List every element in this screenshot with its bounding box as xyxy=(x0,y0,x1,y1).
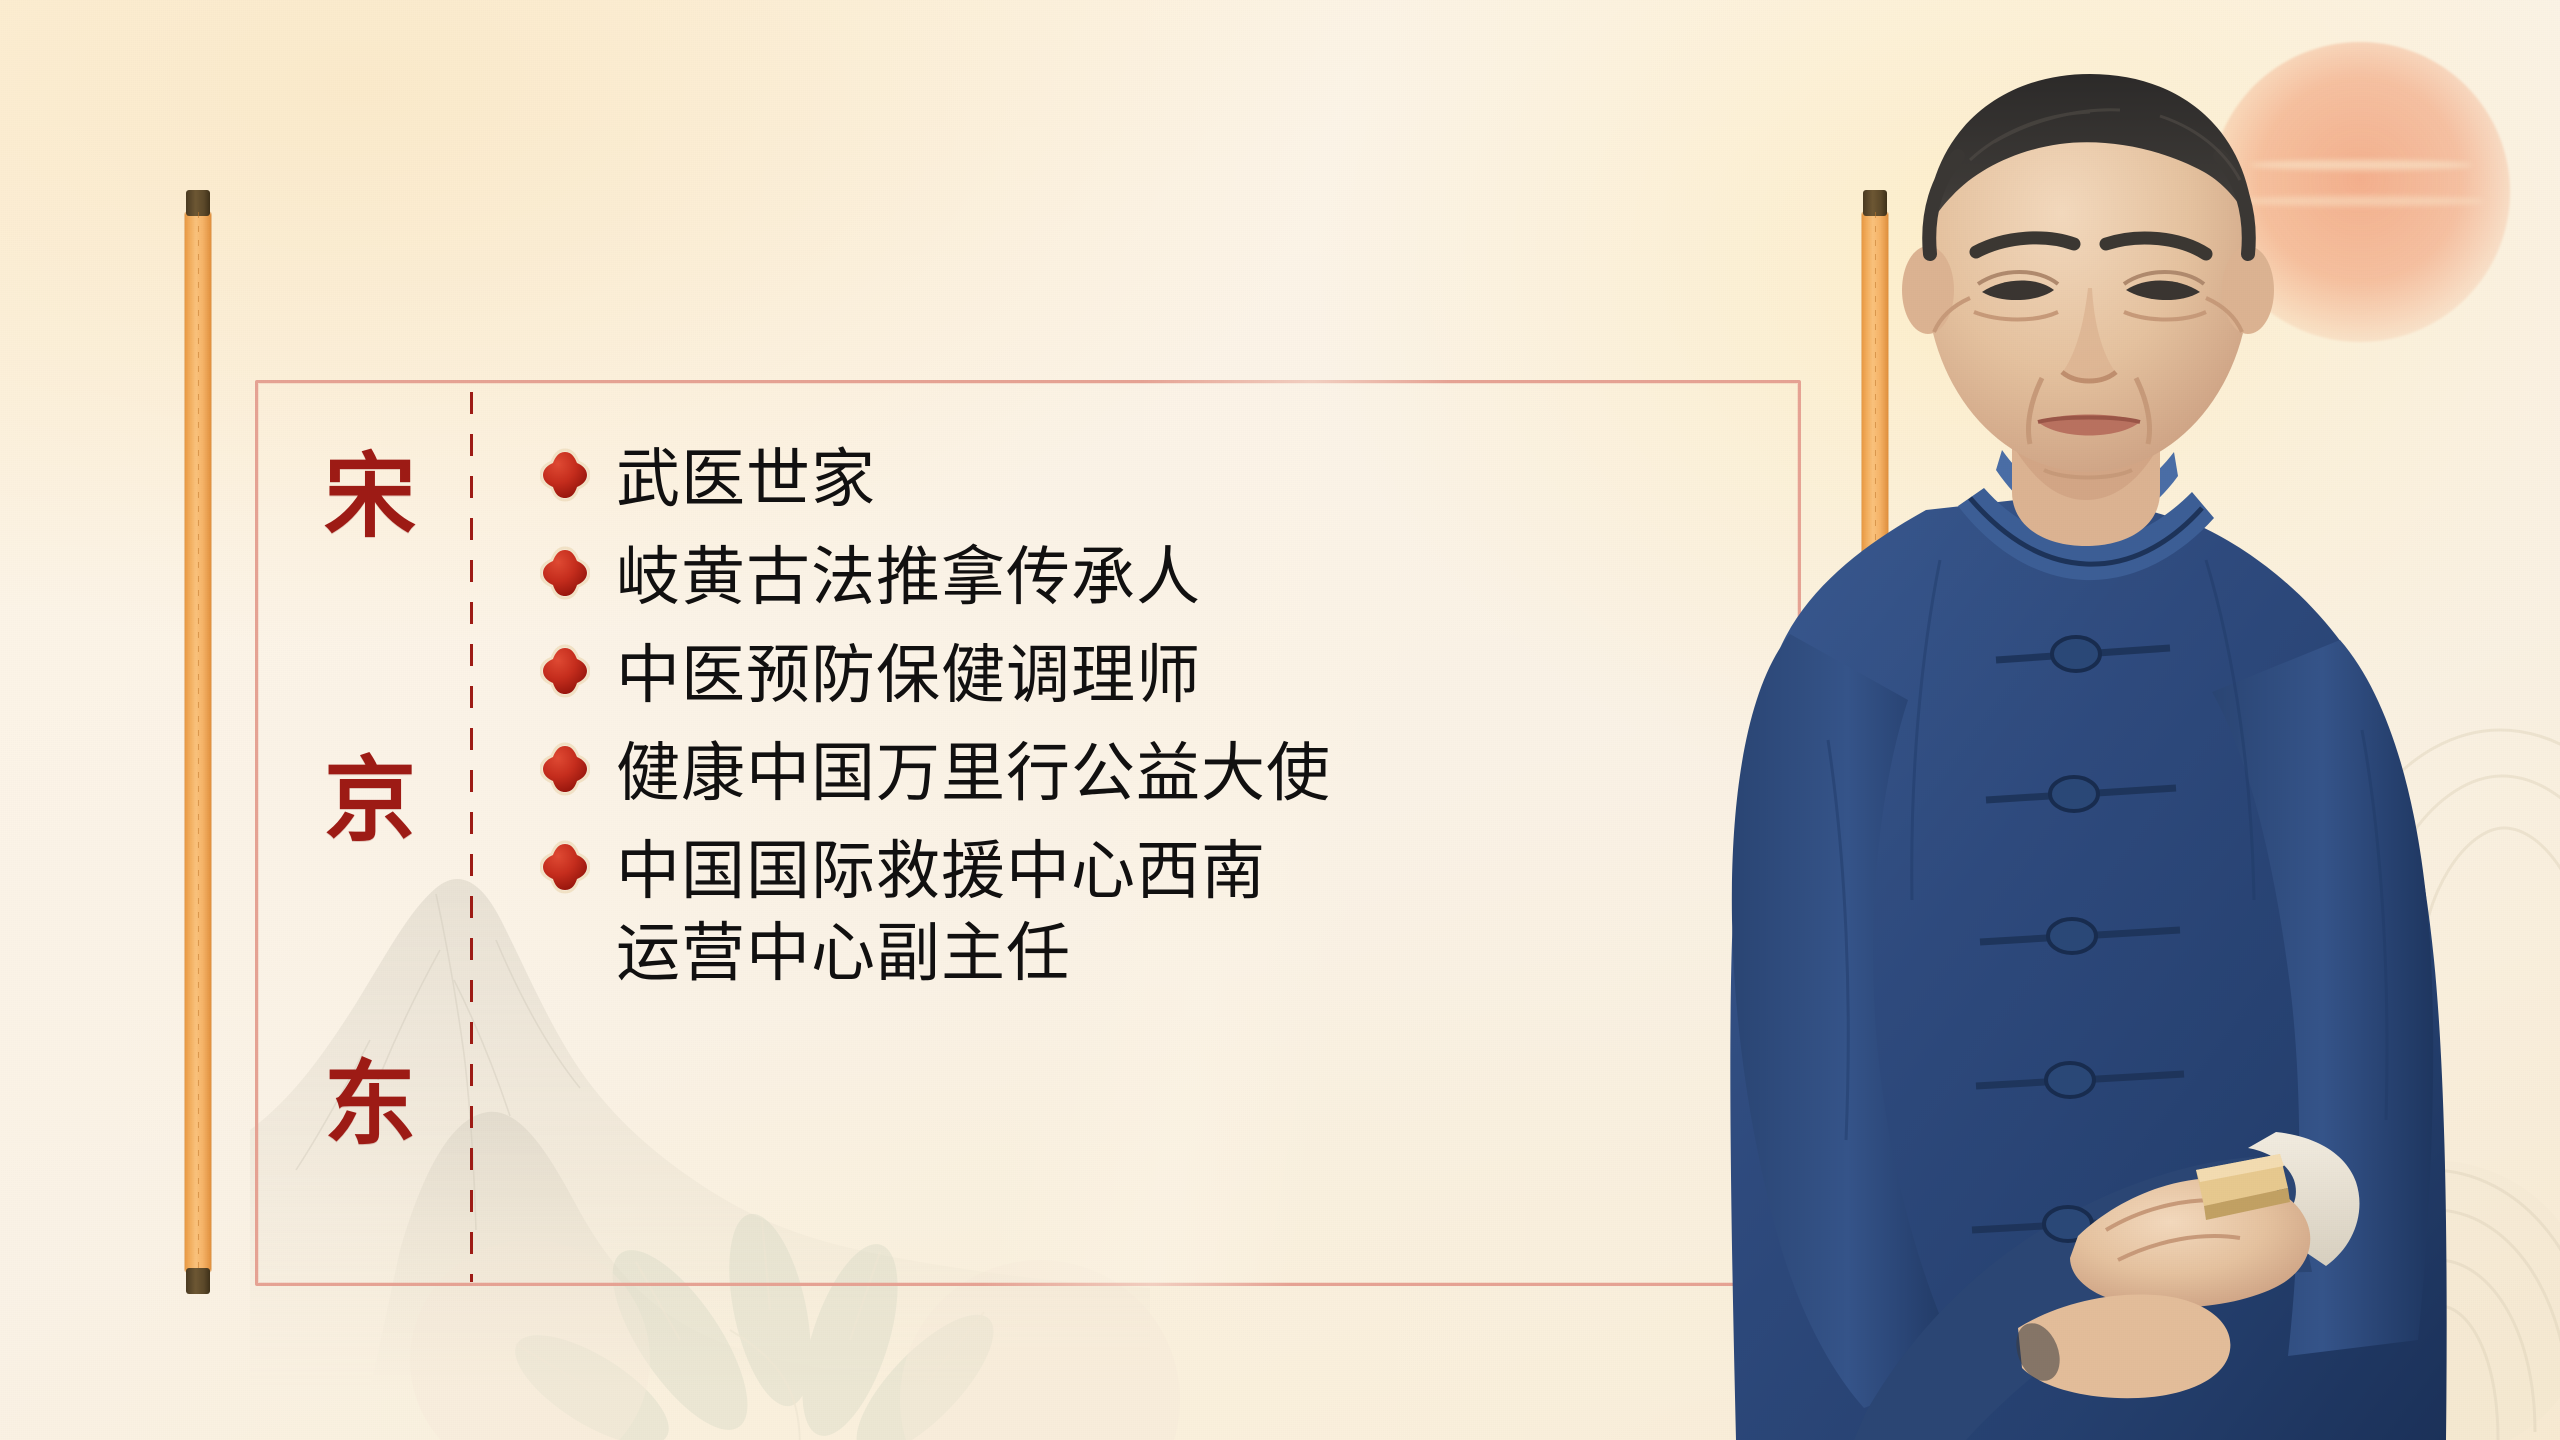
credential-text: 岐黄古法推拿传承人 xyxy=(616,536,1201,618)
rod-texture xyxy=(198,212,199,1272)
red-lobed-bullet-icon xyxy=(540,840,590,894)
poster-canvas: 宋 京 东 武医世家 xyxy=(0,0,2560,1440)
credential-text: 健康中国万里行公益大使 xyxy=(616,732,1331,814)
list-item: 中医预防保健调理师 xyxy=(540,634,1740,716)
list-item: 健康中国万里行公益大使 xyxy=(540,732,1740,814)
portrait-photo xyxy=(1640,40,2560,1440)
red-lobed-bullet-icon xyxy=(540,742,590,796)
name-column: 宋 京 东 xyxy=(300,450,440,1150)
credential-list: 武医世家 岐黄古法推拿传承人 中医预防保健调理师 xyxy=(540,438,1740,994)
name-char-2: 京 xyxy=(324,754,416,846)
red-lobed-bullet-icon xyxy=(540,546,590,600)
credential-text: 中医预防保健调理师 xyxy=(616,634,1201,716)
vertical-dashed-divider xyxy=(470,392,473,1282)
name-char-3: 东 xyxy=(324,1058,416,1150)
scroll-rod-left xyxy=(185,212,211,1272)
list-item: 岐黄古法推拿传承人 xyxy=(540,536,1740,618)
credential-text-continuation: 运营中心副主任 xyxy=(616,912,1071,994)
name-char-1: 宋 xyxy=(324,450,416,542)
list-item: 武医世家 xyxy=(540,438,1740,520)
bullet-spacer xyxy=(540,922,590,976)
red-lobed-bullet-icon xyxy=(540,448,590,502)
list-item: 中国国际救援中心西南 xyxy=(540,830,1740,912)
red-lobed-bullet-icon xyxy=(540,644,590,698)
credential-text: 武医世家 xyxy=(616,438,876,520)
list-item-continuation: 运营中心副主任 xyxy=(540,912,1740,994)
credential-text: 中国国际救援中心西南 xyxy=(616,830,1266,912)
